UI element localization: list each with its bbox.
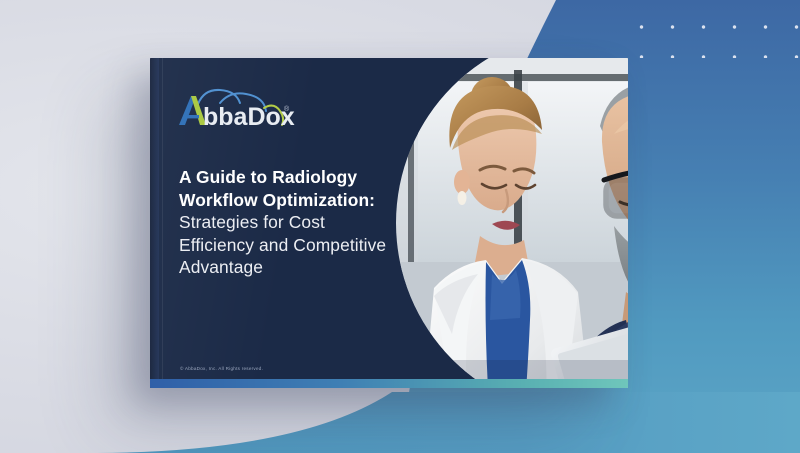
- cover-subtitle-line-1: Strategies for Cost: [179, 211, 431, 234]
- cover-subtitle-line-3: Advantage: [179, 256, 431, 279]
- cover-subtitle-line-2: Efficiency and Competitive: [179, 234, 431, 257]
- cloud-arc-icon: bbaDox ®: [176, 84, 308, 130]
- cover-title-block: A Guide to Radiology Workflow Optimizati…: [179, 166, 431, 279]
- ebook-cover: bbaDox ® A Guide to Radiology Workflow O…: [150, 58, 628, 388]
- cover-title-line-2: Workflow Optimization:: [179, 189, 431, 212]
- cover-accent-stripe: [150, 379, 628, 388]
- logo-wordmark: bbaDox: [203, 103, 295, 130]
- copyright-notice: © AbbaDox, Inc. All Rights reserved.: [180, 366, 263, 371]
- decorative-dot-grid: [620, 6, 800, 58]
- book-spine-crease: [162, 58, 163, 388]
- svg-text:®: ®: [284, 105, 290, 113]
- abbadox-logo: bbaDox ®: [176, 84, 308, 130]
- screenshot-canvas: bbaDox ® A Guide to Radiology Workflow O…: [0, 0, 800, 453]
- cover-title-line-1: A Guide to Radiology: [179, 166, 431, 189]
- book-spine-edge: [150, 58, 159, 388]
